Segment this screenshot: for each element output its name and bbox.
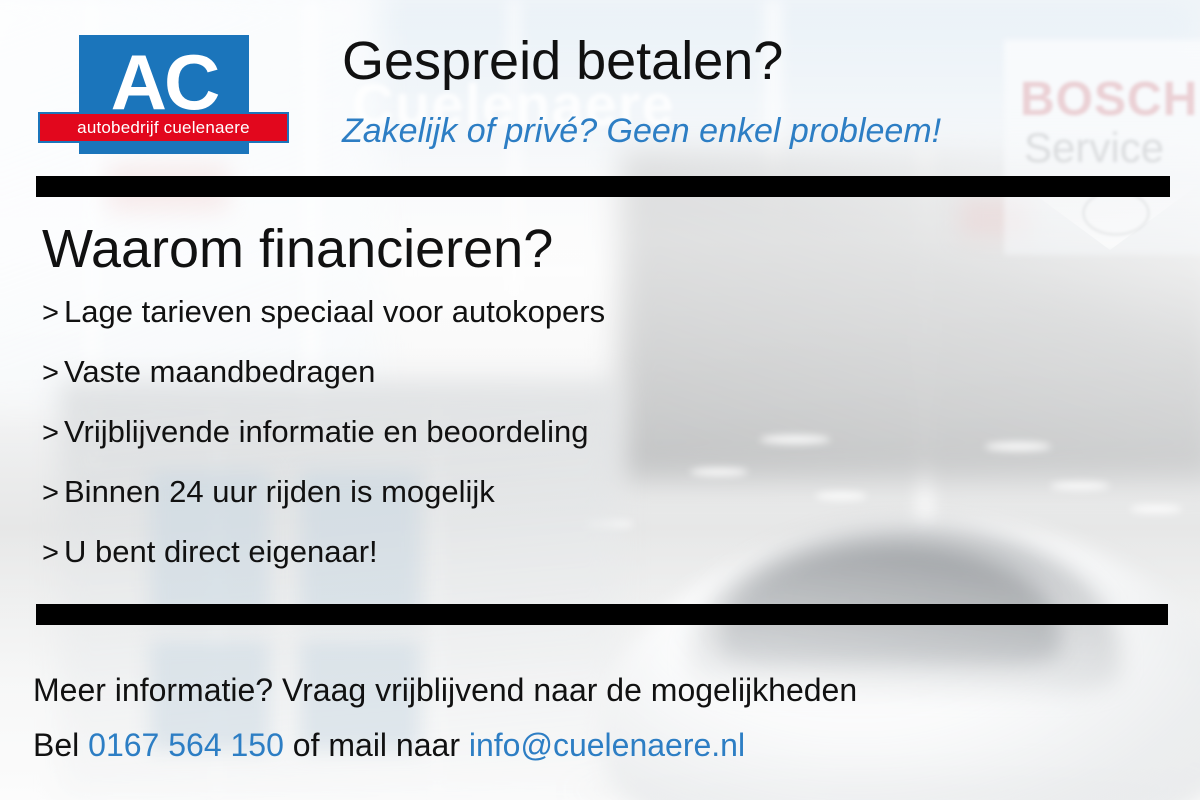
banner-headline: Gespreid betalen? — [342, 28, 783, 94]
list-item: > U bent direct eigenaar! — [42, 534, 605, 594]
bullet-marker-icon: > — [42, 357, 64, 390]
list-item: > Vrijblijvende informatie en beoordelin… — [42, 414, 605, 474]
bullet-marker-icon: > — [42, 537, 64, 570]
logo-red-ribbon: autobedrijf cuelenaere — [38, 112, 289, 143]
banner-content: AC autobedrijf cuelenaere Gespreid betal… — [0, 0, 1200, 800]
bullet-marker-icon: > — [42, 477, 64, 510]
banner-subheadline: Zakelijk of privé? Geen enkel probleem! — [342, 110, 941, 152]
list-item: > Lage tarieven speciaal voor autokopers — [42, 294, 605, 354]
benefits-list: > Lage tarieven speciaal voor autokopers… — [42, 294, 605, 594]
email-link[interactable]: info@cuelenaere.nl — [469, 727, 745, 763]
company-logo: AC autobedrijf cuelenaere — [79, 35, 249, 154]
section-title: Waarom financieren? — [42, 216, 553, 282]
footer-info-line: Meer informatie? Vraag vrijblijvend naar… — [33, 668, 857, 712]
finance-promo-banner: BOSCH Service Cuelenaere AC autobedrijf … — [0, 0, 1200, 800]
phone-link[interactable]: 0167 564 150 — [88, 727, 284, 763]
list-item-label: Vaste maandbedragen — [64, 354, 375, 390]
list-item-label: Lage tarieven speciaal voor autokopers — [64, 294, 605, 330]
footer-call-prefix: Bel — [33, 727, 88, 763]
bullet-marker-icon: > — [42, 417, 64, 450]
list-item-label: Binnen 24 uur rijden is mogelijk — [64, 474, 495, 510]
list-item: > Vaste maandbedragen — [42, 354, 605, 414]
footer-contact-line: Bel 0167 564 150 of mail naar info@cuele… — [33, 723, 745, 767]
list-item-label: U bent direct eigenaar! — [64, 534, 378, 570]
footer-mail-prefix: of mail naar — [284, 727, 469, 763]
logo-ribbon-label: autobedrijf cuelenaere — [77, 118, 250, 138]
divider-top — [36, 176, 1170, 197]
list-item-label: Vrijblijvende informatie en beoordeling — [64, 414, 588, 450]
list-item: > Binnen 24 uur rijden is mogelijk — [42, 474, 605, 534]
bullet-marker-icon: > — [42, 297, 64, 330]
divider-bottom — [36, 604, 1168, 625]
